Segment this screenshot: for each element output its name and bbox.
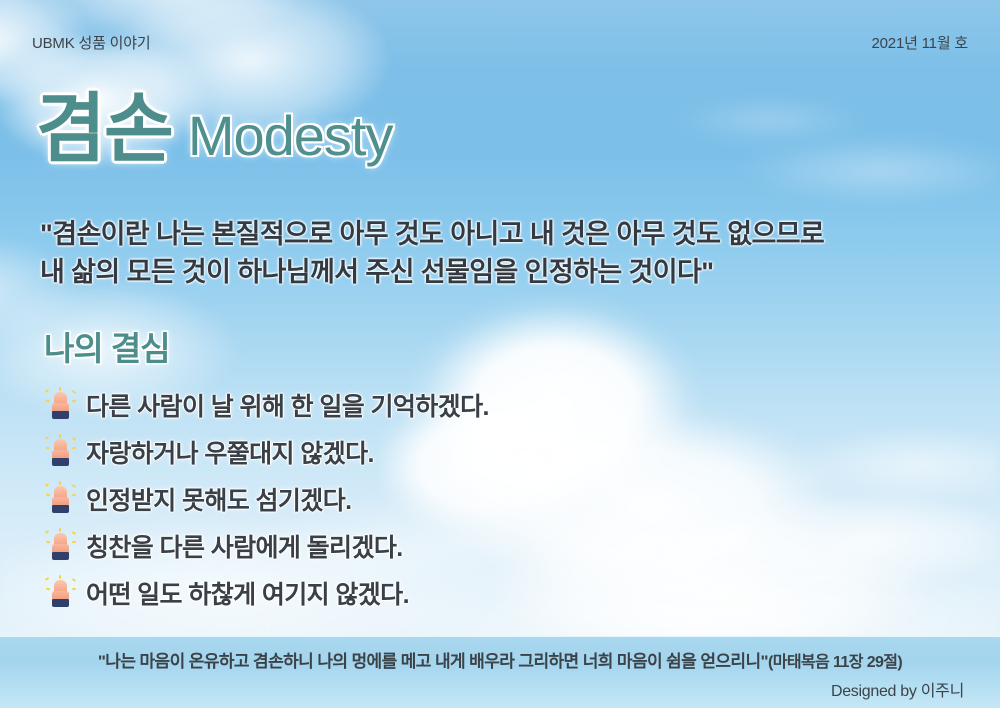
list-item-label: 자랑하거나 우쭐대지 않겠다. (86, 434, 374, 470)
pointing-up-hand-icon (44, 528, 78, 564)
list-item-label: 다른 사람이 날 위해 한 일을 기억하겠다. (86, 387, 489, 423)
list-item: 칭찬을 다른 사람에게 돌리겠다. (44, 522, 924, 569)
definition-line-1: "겸손이란 나는 본질적으로 아무 것도 아니고 내 것은 아무 것도 없으므로 (40, 215, 950, 253)
page-title: 겸손 Modesty (36, 92, 392, 168)
pointing-up-hand-icon (44, 575, 78, 611)
title-english: Modesty (188, 108, 393, 164)
definition-quote: "겸손이란 나는 본질적으로 아무 것도 아니고 내 것은 아무 것도 없으므로… (40, 215, 950, 292)
resolution-list: 다른 사람이 날 위해 한 일을 기억하겠다. 자랑하거나 우쭐대지 않겠다. (44, 381, 924, 616)
list-item: 어떤 일도 하찮게 여기지 않겠다. (44, 569, 924, 616)
section-heading-resolutions: 나의 결심 (44, 322, 170, 370)
poster-canvas: UBMK 성품 이야기 2021년 11월 호 겸손 Modesty "겸손이란… (0, 0, 1000, 708)
list-item: 인정받지 못해도 섬기겠다. (44, 475, 924, 522)
list-item-label: 어떤 일도 하찮게 여기지 않겠다. (86, 575, 409, 611)
bible-verse: "나는 마음이 온유하고 겸손하니 나의 멍에를 메고 내게 배우라 그리하면 … (0, 647, 1000, 672)
list-item: 다른 사람이 날 위해 한 일을 기억하겠다. (44, 381, 924, 428)
page-header: UBMK 성품 이야기 2021년 11월 호 (0, 28, 1000, 56)
issue-date-label: 2021년 11월 호 (872, 32, 968, 53)
definition-line-2: 내 삶의 모든 것이 하나님께서 주신 선물임을 인정하는 것이다" (40, 253, 950, 291)
pointing-up-hand-icon (44, 481, 78, 517)
bible-verse-reference: (마태복음 11장 29절) (768, 654, 902, 671)
list-item-label: 인정받지 못해도 섬기겠다. (86, 481, 351, 517)
bible-verse-text: "나는 마음이 온유하고 겸손하니 나의 멍에를 메고 내게 배우라 그리하면 … (98, 652, 768, 671)
pointing-up-hand-icon (44, 434, 78, 470)
publication-label: UBMK 성품 이야기 (32, 32, 150, 53)
designer-credit: Designed by 이주니 (831, 677, 964, 701)
title-korean: 겸손 (36, 92, 172, 168)
list-item-label: 칭찬을 다른 사람에게 돌리겠다. (86, 528, 403, 564)
page-footer: "나는 마음이 온유하고 겸손하니 나의 멍에를 메고 내게 배우라 그리하면 … (0, 636, 1000, 708)
list-item: 자랑하거나 우쭐대지 않겠다. (44, 428, 924, 475)
pointing-up-hand-icon (44, 387, 78, 423)
